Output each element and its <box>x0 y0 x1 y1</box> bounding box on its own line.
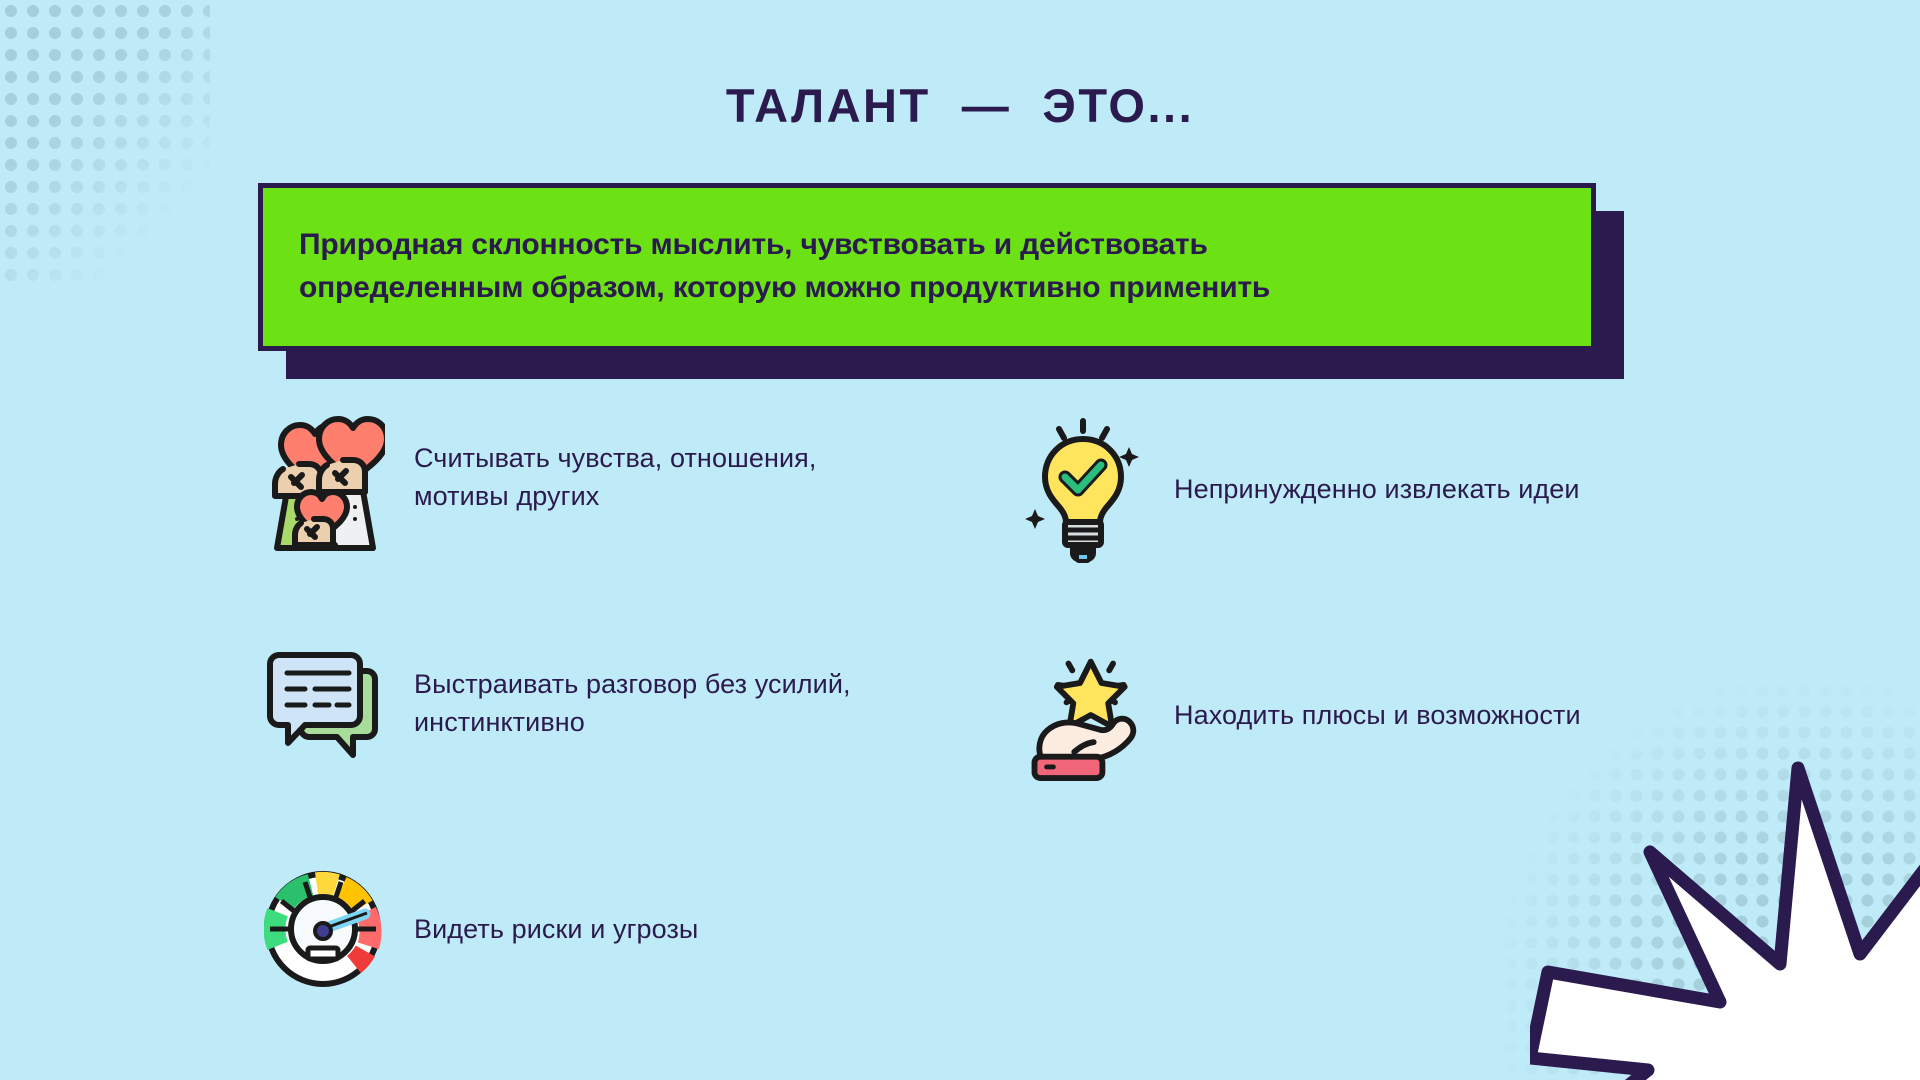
list-item-text: Непринужденно извлекать идеи <box>1174 470 1580 508</box>
list-item-line-2: инстинктивно <box>414 703 851 741</box>
gauge-risk-icon <box>258 854 388 1004</box>
page-title: ТАЛАНТ — ЭТО... <box>0 78 1920 133</box>
hand-star-icon <box>1018 640 1148 790</box>
statement-text: Природная склонность мыслить, чувствоват… <box>299 224 1270 309</box>
items-column-left: Считывать чувства, отношения, мотивы дру… <box>258 400 918 1080</box>
items-column-right: Непринужденно извлекать идеи <box>1018 400 1738 866</box>
list-item-text: Находить плюсы и возможности <box>1174 696 1581 734</box>
list-item-line-1: Находить плюсы и возможности <box>1174 696 1581 734</box>
statement-callout: Природная склонность мыслить, чувствоват… <box>258 183 1624 379</box>
lightbulb-check-icon <box>1018 414 1148 564</box>
hands-holding-hearts-icon <box>258 402 388 552</box>
list-item-text: Выстраивать разговор без усилий, инстинк… <box>414 665 851 742</box>
statement-line-1: Природная склонность мыслить, чувствоват… <box>299 224 1270 267</box>
list-item-line-1: Считывать чувства, отношения, <box>414 439 816 477</box>
list-item-line-2: мотивы других <box>414 477 816 515</box>
list-item-text: Видеть риски и угрозы <box>414 910 698 948</box>
list-item-line-1: Выстраивать разговор без усилий, <box>414 665 851 703</box>
list-item: Находить плюсы и возможности <box>1018 640 1738 790</box>
list-item: Выстраивать разговор без усилий, инстинк… <box>258 628 918 778</box>
speech-bubbles-icon <box>258 628 388 778</box>
list-item-text: Считывать чувства, отношения, мотивы дру… <box>414 439 816 516</box>
list-item: Видеть риски и угрозы <box>258 854 918 1004</box>
list-item-line-1: Видеть риски и угрозы <box>414 910 698 948</box>
statement-box: Природная склонность мыслить, чувствоват… <box>258 183 1596 351</box>
halftone-dots-top-left <box>0 0 210 290</box>
list-item-line-1: Непринужденно извлекать идеи <box>1174 470 1580 508</box>
list-item: Непринужденно извлекать идеи <box>1018 414 1738 564</box>
statement-line-2: определенным образом, которую можно прод… <box>299 267 1270 310</box>
list-item: Считывать чувства, отношения, мотивы дру… <box>258 402 918 552</box>
